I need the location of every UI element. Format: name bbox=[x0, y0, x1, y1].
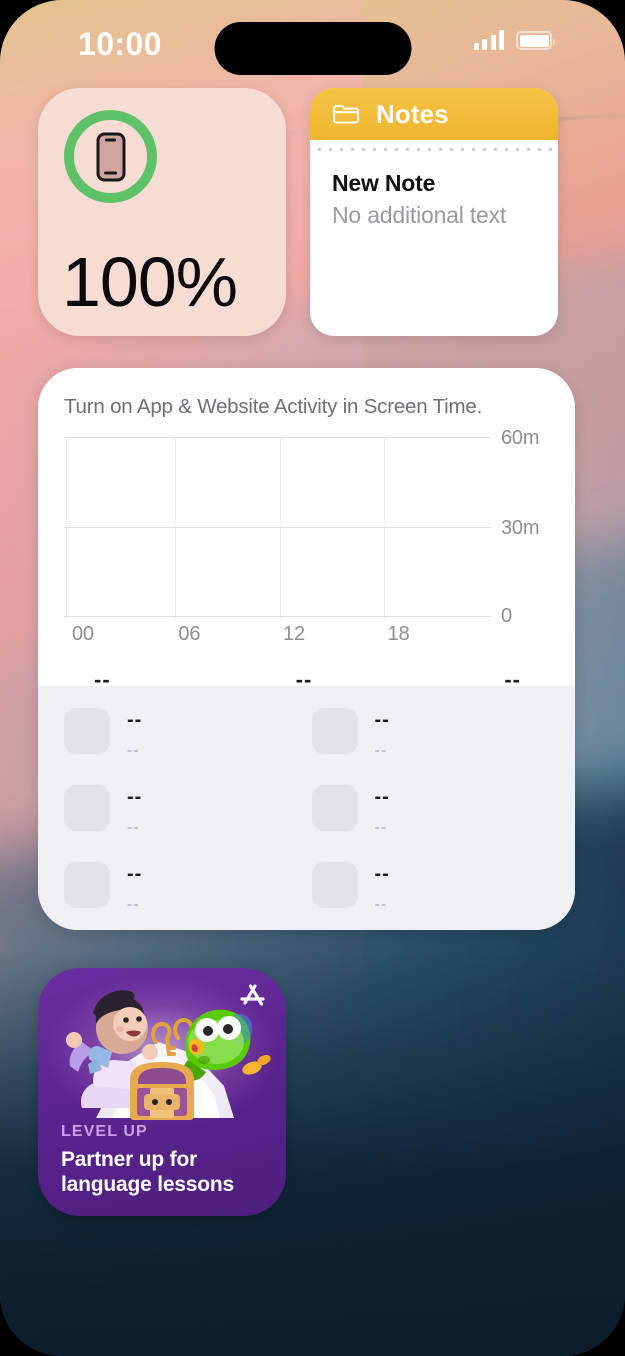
app-duration: -- bbox=[127, 820, 142, 836]
app-icon-placeholder bbox=[312, 862, 358, 908]
screen-time-chart-section: Turn on App & Website Activity in Screen… bbox=[38, 368, 575, 686]
y-axis-label-60m: 60m bbox=[501, 428, 539, 448]
vertical-gridline-18 bbox=[384, 437, 385, 618]
list-item[interactable]: -- -- bbox=[64, 708, 302, 759]
duolingo-eyebrow: LEVEL UP bbox=[61, 1123, 272, 1141]
screen-time-totals-row: -- -- -- bbox=[90, 655, 523, 703]
app-name: -- bbox=[375, 787, 390, 807]
duolingo-headline: Partner up for language lessons bbox=[61, 1147, 272, 1197]
gridline-0 bbox=[64, 616, 491, 617]
y-axis-label-0: 0 bbox=[501, 606, 512, 626]
x-axis-label-00: 00 bbox=[72, 623, 94, 646]
gridline-30m bbox=[64, 527, 491, 528]
app-name: -- bbox=[127, 787, 142, 807]
app-name: -- bbox=[127, 864, 142, 884]
y-axis-label-30m: 30m bbox=[501, 518, 539, 538]
app-duration: -- bbox=[375, 897, 390, 913]
gridline-60m bbox=[64, 437, 491, 438]
iphone-icon bbox=[96, 132, 125, 181]
screen-time-caption: Turn on App & Website Activity in Screen… bbox=[64, 395, 549, 419]
x-axis-label-06: 06 bbox=[178, 623, 200, 646]
battery-ring-gauge bbox=[64, 110, 157, 203]
notes-perforation bbox=[310, 140, 558, 152]
list-item[interactable]: -- -- bbox=[312, 708, 550, 759]
notes-widget-body: New Note No additional text bbox=[310, 152, 558, 229]
x-axis-label-12: 12 bbox=[283, 623, 305, 646]
app-icon-placeholder bbox=[312, 708, 358, 754]
app-name: -- bbox=[375, 864, 390, 884]
screen-time-total-1: -- bbox=[94, 667, 111, 693]
app-name: -- bbox=[375, 710, 390, 730]
widget-area: 100% Notes New Note No additional bbox=[0, 0, 625, 1356]
vertical-gridline-06 bbox=[175, 437, 176, 618]
note-subtitle: No additional text bbox=[332, 202, 536, 229]
vertical-gridline-00 bbox=[66, 437, 67, 618]
app-duration: -- bbox=[375, 820, 390, 836]
app-duration: -- bbox=[127, 743, 142, 759]
notes-widget[interactable]: Notes New Note No additional text bbox=[310, 88, 558, 336]
dynamic-island bbox=[214, 22, 411, 75]
list-item[interactable]: -- -- bbox=[312, 862, 550, 913]
folder-icon bbox=[332, 103, 360, 125]
screen-time-widget[interactable]: Turn on App & Website Activity in Screen… bbox=[38, 368, 575, 930]
battery-full-icon bbox=[516, 31, 552, 50]
vertical-gridline-12 bbox=[280, 437, 281, 618]
cellular-signal-icon bbox=[474, 30, 505, 50]
screen-time-app-list: -- -- -- -- -- bbox=[38, 686, 575, 930]
app-store-icon bbox=[236, 978, 270, 1017]
notes-widget-header: Notes bbox=[310, 88, 558, 140]
screen-time-total-2: -- bbox=[296, 667, 313, 693]
app-icon-placeholder bbox=[64, 862, 110, 908]
list-item[interactable]: -- -- bbox=[64, 785, 302, 836]
app-icon-placeholder bbox=[64, 785, 110, 831]
app-icon-placeholder bbox=[312, 785, 358, 831]
screen-time-total-3: -- bbox=[504, 667, 521, 693]
app-store-duolingo-widget[interactable]: LEVEL UP Partner up for language lessons bbox=[38, 968, 286, 1216]
status-bar-time: 10:00 bbox=[78, 26, 162, 63]
list-item[interactable]: -- -- bbox=[64, 862, 302, 913]
battery-percentage: 100% bbox=[62, 242, 237, 322]
list-item[interactable]: -- -- bbox=[312, 785, 550, 836]
status-bar-indicators bbox=[474, 30, 553, 50]
duolingo-widget-text: LEVEL UP Partner up for language lessons bbox=[61, 1123, 272, 1197]
app-icon-placeholder bbox=[64, 708, 110, 754]
app-duration: -- bbox=[375, 743, 390, 759]
app-name: -- bbox=[127, 710, 142, 730]
app-duration: -- bbox=[127, 897, 142, 913]
x-axis-label-18: 18 bbox=[388, 623, 410, 646]
x-axis-labels: 00 06 12 18 bbox=[64, 623, 491, 649]
notes-widget-title: Notes bbox=[376, 99, 449, 130]
screen-time-chart: 60m 30m 0 bbox=[64, 437, 491, 617]
battery-fill bbox=[520, 35, 549, 47]
widget-row-top: 100% Notes New Note No additional bbox=[38, 88, 587, 336]
iphone-home-screen: 10:00 100% bbox=[0, 0, 625, 1356]
battery-widget[interactable]: 100% bbox=[38, 88, 286, 336]
note-title: New Note bbox=[332, 170, 536, 197]
duolingo-illustration bbox=[38, 968, 286, 1128]
